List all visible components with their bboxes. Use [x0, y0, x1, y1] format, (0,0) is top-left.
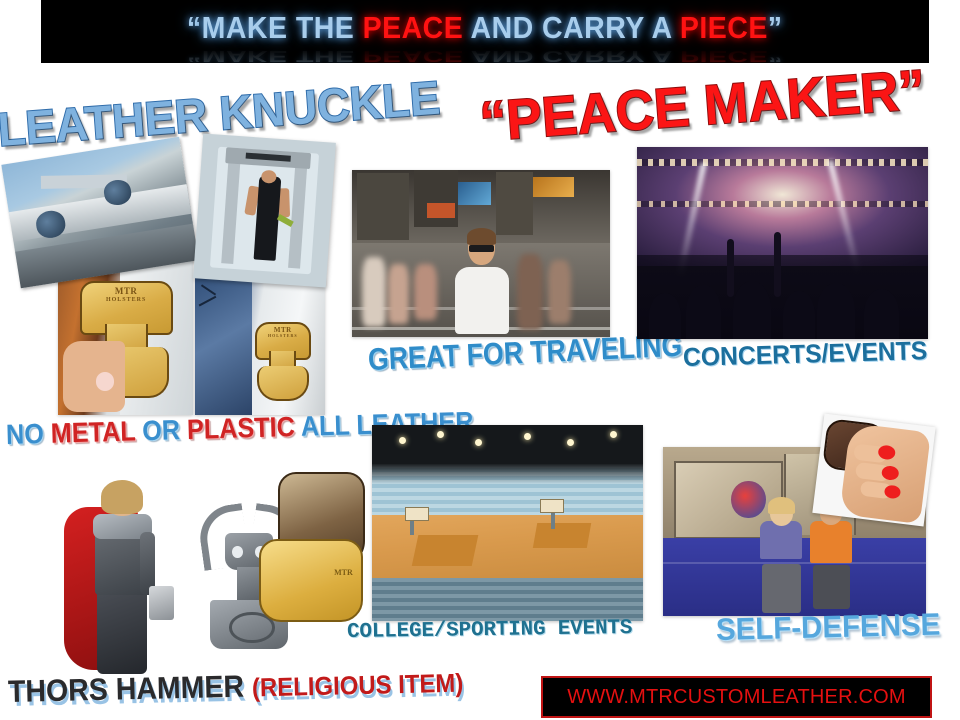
crowd-head [686, 285, 721, 339]
brand-mark: MTR HOLSTERS [92, 287, 160, 300]
photo-thor-figure [62, 470, 180, 678]
hair [768, 497, 795, 515]
main-headline: LEATHER KNUCKLE “PEACE MAKER” [0, 72, 960, 144]
raised-arm [774, 232, 781, 297]
woman-defender [760, 501, 802, 613]
white-tshirt [455, 267, 509, 333]
seam [200, 284, 215, 295]
eye [232, 546, 243, 558]
photo-hand-holding-knuckle [812, 414, 935, 527]
plastic-label: PLASTIC [187, 411, 296, 445]
promotional-slide: “MAKE THE PEACE AND CARRY A PIECE” “MAKE… [0, 0, 960, 720]
hand [63, 341, 125, 411]
photo-security-scanner [193, 134, 336, 288]
photo-product-jeans: MTR HOLSTERS [195, 278, 325, 415]
billboard [533, 177, 574, 197]
crowd-head [733, 281, 771, 339]
website-banner[interactable]: WWW.MTRCUSTOMLEATHER.COM [541, 676, 932, 718]
ceiling-light [399, 437, 406, 444]
blurred-pedestrian [414, 264, 437, 321]
sunglasses-icon [469, 245, 494, 252]
banner-quote-open: “ [187, 10, 202, 45]
blurred-pedestrian [388, 264, 409, 324]
banner-segment-piece: PIECE [680, 10, 768, 45]
hair [101, 480, 143, 513]
caption-concerts: CONCERTS/EVENTS [683, 337, 928, 370]
arena-roof [372, 425, 643, 468]
man-in-white-shirt [455, 230, 509, 334]
headline-banner: “MAKE THE PEACE AND CARRY A PIECE” “MAKE… [41, 0, 929, 63]
caption-thors-hammer: THORS HAMMER (RELIGIOUS ITEM) [8, 666, 464, 707]
website-url[interactable]: WWW.MTRCUSTOMLEATHER.COM [567, 686, 905, 709]
hammer-in-hand [149, 586, 174, 619]
training-partner [810, 504, 852, 609]
fingernail [96, 372, 115, 390]
brand-mark: MTR HOLSTERS [263, 327, 303, 336]
blurred-pedestrian [517, 254, 543, 331]
scanner-display [246, 153, 291, 162]
banner-quote-close: ” [768, 10, 783, 45]
brand-mark: MTR [334, 568, 353, 577]
seam [199, 295, 217, 306]
caption-sporting: COLLEGE/SPORTING EVENTS [347, 618, 633, 643]
building [357, 173, 409, 240]
crowd-head [864, 289, 899, 339]
crowd-head [649, 293, 681, 339]
thors-hammer-label: THORS HAMMER [8, 668, 253, 709]
sports-top [760, 521, 802, 559]
light-truss [637, 159, 928, 167]
blurred-pedestrian [362, 257, 385, 327]
photo-concert [637, 147, 928, 339]
arm [140, 532, 155, 594]
light-truss [637, 201, 928, 207]
banner-segment-peace: PEACE [363, 10, 464, 45]
no-label: NO [6, 418, 52, 450]
jeans-pocket [195, 278, 252, 415]
or-label: OR [135, 414, 188, 446]
metal-label: METAL [50, 415, 135, 448]
ceiling-light [437, 431, 444, 438]
photo-arena [372, 425, 643, 621]
court-key [532, 523, 591, 548]
court-key [412, 535, 478, 566]
billboard [458, 182, 492, 205]
raised-arm [727, 239, 734, 297]
banner-headline: “MAKE THE PEACE AND CARRY A PIECE” [187, 12, 783, 52]
legs [97, 591, 147, 674]
backboard [405, 507, 429, 521]
ceiling-light [475, 439, 482, 446]
ceiling-light [567, 439, 574, 446]
ceiling-light [524, 433, 531, 440]
backboard [540, 499, 564, 513]
shadow-overlay [372, 464, 643, 484]
caption-self-defense: SELF-DEFENSE [716, 609, 941, 645]
religious-item-label: (RELIGIOUS ITEM) [252, 668, 464, 703]
photo-leather-pieces: MTR [252, 472, 368, 624]
photo-traveling [352, 170, 610, 337]
pants [813, 565, 850, 609]
headline-peace-maker: “PEACE MAKER” [478, 61, 927, 150]
banner-segment-1: MAKE THE [202, 10, 363, 45]
lower-seating [372, 578, 643, 621]
blurred-pedestrian [548, 260, 571, 323]
crowd-head [817, 283, 855, 339]
banner-segment-3: AND CARRY A [463, 10, 680, 45]
tan-leather-knuckle: MTR [259, 539, 363, 622]
leggings [762, 564, 801, 613]
billboard [427, 203, 455, 218]
orange-shirt [810, 521, 852, 563]
building [496, 172, 532, 235]
crowd-head [783, 291, 815, 339]
leather-knuckle-shape: MTR HOLSTERS [255, 322, 307, 399]
hair [467, 228, 496, 245]
knuckle-foot [257, 366, 309, 400]
